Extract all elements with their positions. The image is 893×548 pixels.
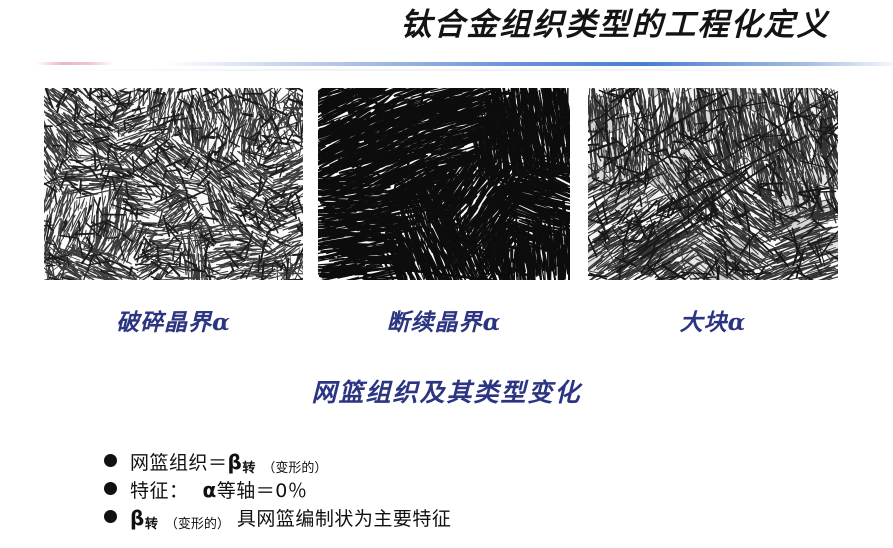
bullet-item-1-text: 网篮组织＝β转（变形的）: [130, 448, 327, 475]
bullet-1-subscript: 转: [242, 461, 255, 476]
figure-caption-3: 大块α: [588, 303, 838, 337]
bullet-marker-icon: [104, 454, 117, 467]
bullet-item-3-text: β转（变形的）具网篮编制状为主要特征: [130, 504, 451, 531]
micrograph-image-3: [588, 88, 838, 280]
page-title: 钛合金组织类型的工程化定义: [345, 2, 885, 50]
bullet-marker-icon: [104, 482, 117, 495]
bullet-item-3: β转（变形的）具网篮编制状为主要特征: [104, 504, 804, 532]
bullet-marker-icon: [104, 510, 117, 523]
divider-haze-rule: [40, 69, 860, 71]
bullet-item-2-text: 特征：α等轴＝0％: [130, 476, 307, 503]
divider-pink-rule: [36, 62, 114, 65]
bullet-item-2: 特征：α等轴＝0％: [104, 476, 804, 504]
figure-caption-1: 破碎晶界α: [44, 303, 303, 337]
bullet-1-note: （变形的）: [262, 461, 327, 476]
micrograph-image-2: [318, 88, 570, 280]
bullet-3-subscript: 转: [145, 517, 158, 532]
bullet-3-tail: 具网篮编制状为主要特征: [237, 508, 452, 530]
bullet-item-1: 网篮组织＝β转（变形的）: [104, 448, 804, 476]
divider-blue-rule: [165, 62, 893, 66]
header-divider: [0, 55, 893, 73]
figure-caption-2: 断续晶界α: [318, 303, 570, 337]
bullet-3-symbol: β: [130, 506, 145, 530]
section-subtitle: 网篮组织及其类型变化: [0, 373, 893, 409]
bullet-2-lead: 特征：: [130, 480, 189, 502]
bullet-2-tail: 等轴＝0％: [217, 480, 308, 502]
bullet-1-symbol: β: [228, 450, 243, 474]
bullet-3-note: （变形的）: [165, 517, 230, 532]
micrograph-image-1: [44, 88, 303, 280]
bullet-2-symbol: α: [203, 478, 217, 502]
bullet-1-lead: 网篮组织＝: [130, 452, 228, 474]
bullet-list: 网篮组织＝β转（变形的） 特征：α等轴＝0％ β转（变形的）具网篮编制状为主要特…: [104, 448, 804, 532]
